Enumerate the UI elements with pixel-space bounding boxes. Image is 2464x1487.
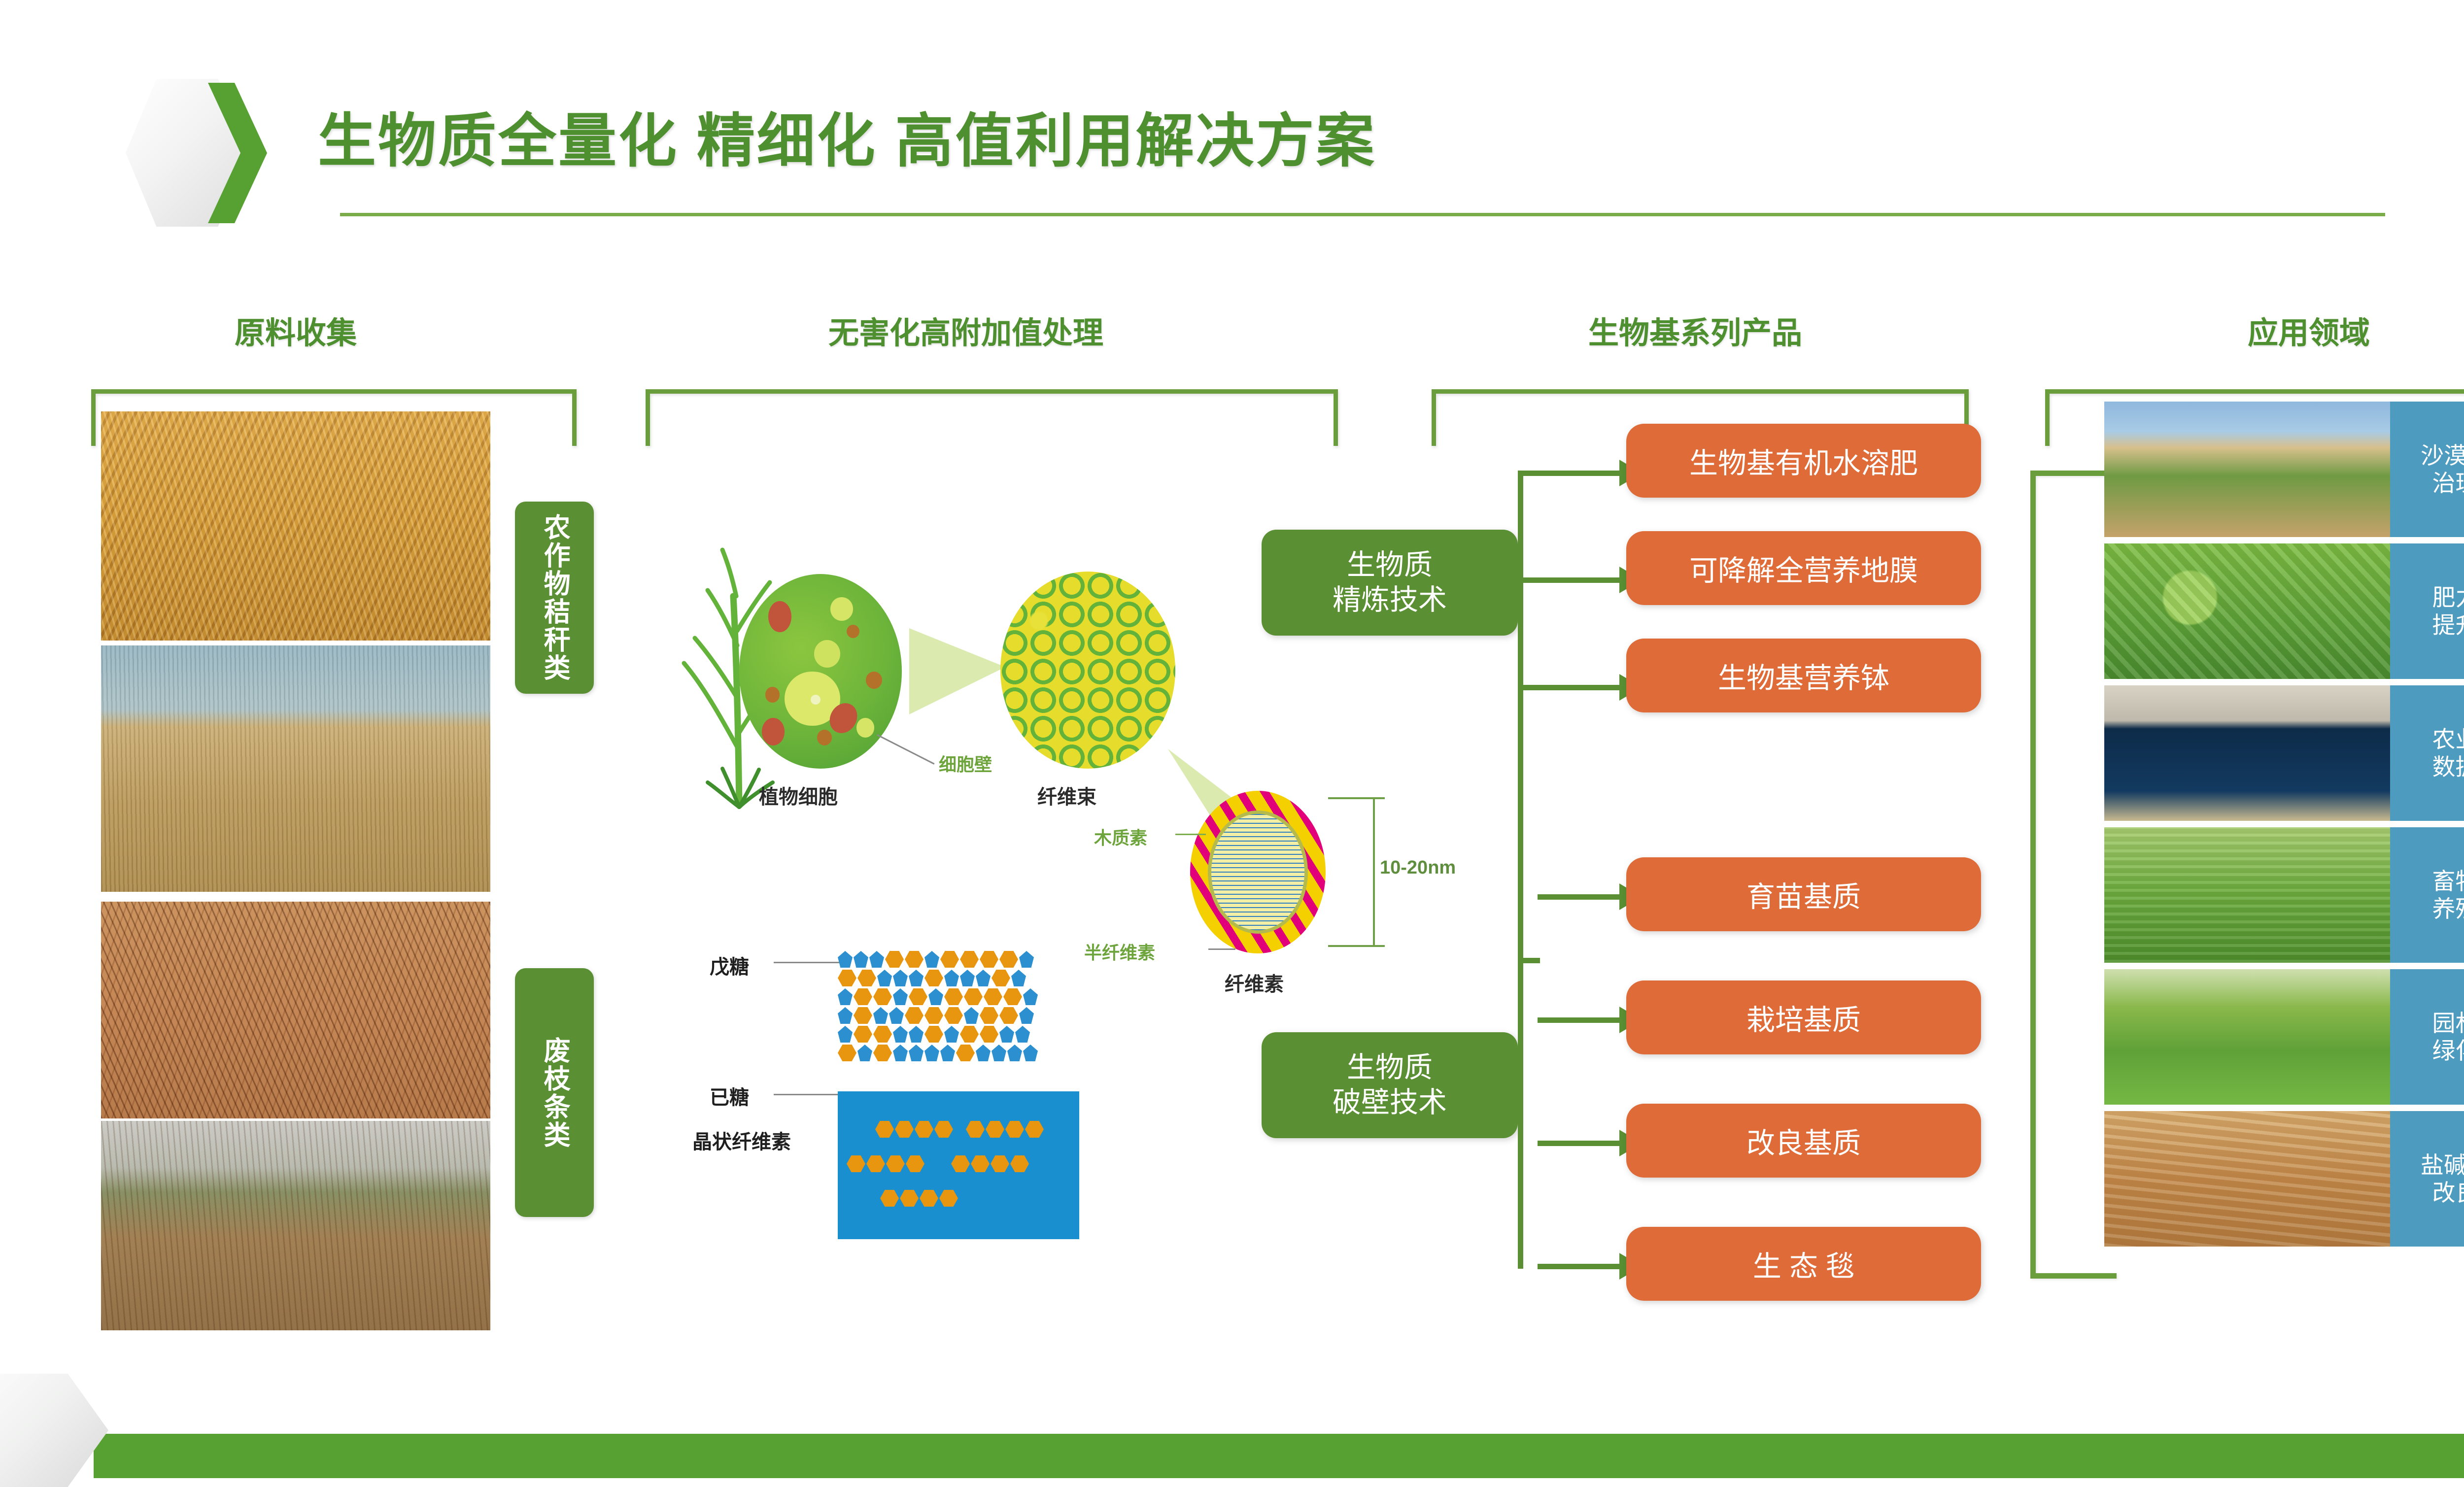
photo-cabbage-field <box>2104 543 2390 679</box>
app-label-line1: 肥力 <box>2432 584 2464 610</box>
photo-corn-stalk-field <box>101 411 490 641</box>
label-hemicellulose: 半纤维素 <box>1084 939 1155 964</box>
arrow-shaft-product-5 <box>1538 1017 1621 1023</box>
footer-bar <box>94 1434 2464 1478</box>
application-row-livestock-breeding[interactable]: 畜牧 养殖 <box>2104 827 2464 963</box>
product-box-cultivation-substrate[interactable]: 栽培基质 <box>1626 980 1981 1054</box>
label-crystalline-cellulose: 晶状纤维素 <box>692 1126 791 1154</box>
fiber-bundle-illustration <box>1000 572 1175 769</box>
dimension-tick-bottom <box>1328 945 1385 947</box>
page-title: 生物质全量化 精细化 高值利用解决方案 <box>318 94 1376 178</box>
footer-hexagon-left <box>0 1374 108 1487</box>
plant-cell-illustration <box>739 574 902 769</box>
product-box-water-soluble-fertilizer[interactable]: 生物基有机水溶肥 <box>1626 424 1981 498</box>
label-lignin: 木质素 <box>1094 824 1147 849</box>
product-box-improvement-substrate[interactable]: 改良基质 <box>1626 1104 1981 1178</box>
app-label-line1: 沙漠化 <box>2421 442 2464 469</box>
label-cellulose: 纤维素 <box>1225 968 1284 997</box>
lignin-leader-line <box>1175 834 1206 835</box>
cellulose-core <box>1208 811 1308 934</box>
raw-material-label-crop-straw: 农作物秸秆类 <box>515 502 594 694</box>
photo-agriculture-data-center <box>2104 685 2390 821</box>
section-title-processing: 无害化高附加值处理 <box>646 308 1286 352</box>
connector-tick <box>1518 685 1540 690</box>
application-row-saline-alkali-improvement[interactable]: 盐碱地 改良 <box>2104 1111 2464 1247</box>
label-cell-wall: 细胞壁 <box>939 750 992 776</box>
product-box-degradable-mulch-film[interactable]: 可降解全营养地膜 <box>1626 531 1981 605</box>
application-row-landscape-greening[interactable]: 园林 绿化 <box>2104 969 2464 1105</box>
app-label-line1: 园林 <box>2432 1010 2464 1036</box>
label-hexose: 已糖 <box>710 1081 749 1110</box>
pentose-leader-line <box>774 962 843 963</box>
app-label-line2: 治理 <box>2432 470 2464 496</box>
app-label-line2: 提升 <box>2432 612 2464 638</box>
app-label-line2: 数据 <box>2432 754 2464 780</box>
product-box-ecological-blanket[interactable]: 生 态 毯 <box>1626 1227 1981 1301</box>
tech-box-cell-wall-breaking[interactable]: 生物质 破壁技术 <box>1262 1032 1518 1138</box>
app-label-line2: 养殖 <box>2432 896 2464 922</box>
photo-landscaped-green-park <box>2104 969 2390 1105</box>
arrow-shaft-product-1 <box>1538 471 1621 476</box>
app-label-line1: 盐碱地 <box>2421 1152 2464 1178</box>
app-label-line1: 畜牧 <box>2432 868 2464 894</box>
crystalline-cellulose-diagram <box>838 1091 1079 1239</box>
label-plant-cell: 植物细胞 <box>759 781 838 810</box>
raw-material-label-waste-branches: 废枝条类 <box>515 968 594 1217</box>
application-label-agriculture-data: 农业 数据 <box>2390 685 2464 821</box>
dimension-tick-top <box>1328 797 1385 799</box>
label-fiber-bundle: 纤维束 <box>1037 781 1096 810</box>
arrow-shaft-product-2 <box>1538 577 1621 583</box>
photo-saline-alkali-soil <box>2104 1111 2390 1247</box>
photo-orchard-pruning-workers <box>101 1121 490 1330</box>
section-bracket-processing <box>646 389 1338 446</box>
arrow-shaft-product-4 <box>1538 894 1621 900</box>
hemicellulose-leader-line <box>1208 948 1235 950</box>
hexose-leader-line <box>774 1094 843 1095</box>
cell-wall-leader-line <box>877 734 934 765</box>
tech-box-biomass-refining[interactable]: 生物质 精炼技术 <box>1262 530 1518 636</box>
product-box-seedling-substrate[interactable]: 育苗基质 <box>1626 857 1981 931</box>
magnify-beam-2 <box>909 628 1005 714</box>
photo-pruned-branches <box>101 902 490 1118</box>
slide-canvas: 生物质全量化 精细化 高值利用解决方案 原料收集 无害化高附加值处理 生物基系列… <box>0 0 2464 1478</box>
sugar-polymer-diagram <box>838 951 1038 1063</box>
application-row-desert-control[interactable]: 沙漠化 治理 <box>2104 402 2464 537</box>
section-title-collection: 原料收集 <box>158 308 434 352</box>
photo-sheep-grazing-pasture <box>2104 827 2390 963</box>
tech-label-line1: 生物质 <box>1347 549 1433 581</box>
title-divider <box>340 213 2385 216</box>
application-label-saline-alkali-improvement: 盐碱地 改良 <box>2390 1111 2464 1247</box>
applications-bracket <box>2030 471 2117 1279</box>
application-row-agriculture-data[interactable]: 农业 数据 <box>2104 685 2464 821</box>
product-box-nutrition-pot[interactable]: 生物基营养钵 <box>1626 639 1981 712</box>
label-nanofiber-dimension: 10-20nm <box>1380 857 1456 879</box>
connector-spine-cellwall <box>1518 894 1523 1269</box>
application-label-desert-control: 沙漠化 治理 <box>2390 402 2464 537</box>
tech-label-line2: 精炼技术 <box>1333 584 1447 616</box>
cellulose-nanofiber-illustration <box>1190 791 1326 953</box>
application-label-landscape-greening: 园林 绿化 <box>2390 969 2464 1105</box>
application-row-fertility-improvement[interactable]: 肥力 提升 <box>2104 543 2464 679</box>
arrow-shaft-product-3 <box>1538 685 1621 690</box>
section-title-application: 应用领域 <box>2094 308 2464 352</box>
connector-tick <box>1518 577 1540 583</box>
tech-label-line1: 生物质 <box>1347 1051 1433 1083</box>
label-pentose: 戊糖 <box>710 951 749 980</box>
photo-desert-control-site <box>2104 402 2390 537</box>
section-title-products: 生物基系列产品 <box>1424 308 1966 352</box>
application-label-fertility-improvement: 肥力 提升 <box>2390 543 2464 679</box>
app-label-line2: 绿化 <box>2432 1038 2464 1064</box>
arrow-shaft-product-7 <box>1538 1264 1621 1269</box>
dimension-line <box>1373 797 1375 947</box>
photo-baled-straw-field <box>101 645 490 892</box>
arrow-shaft-product-6 <box>1538 1141 1621 1146</box>
hexagon-logo <box>126 79 274 227</box>
tech-label-line2: 破壁技术 <box>1333 1086 1447 1118</box>
application-label-livestock-breeding: 畜牧 养殖 <box>2390 827 2464 963</box>
app-label-line2: 改良 <box>2432 1180 2464 1206</box>
app-label-line1: 农业 <box>2432 726 2464 752</box>
